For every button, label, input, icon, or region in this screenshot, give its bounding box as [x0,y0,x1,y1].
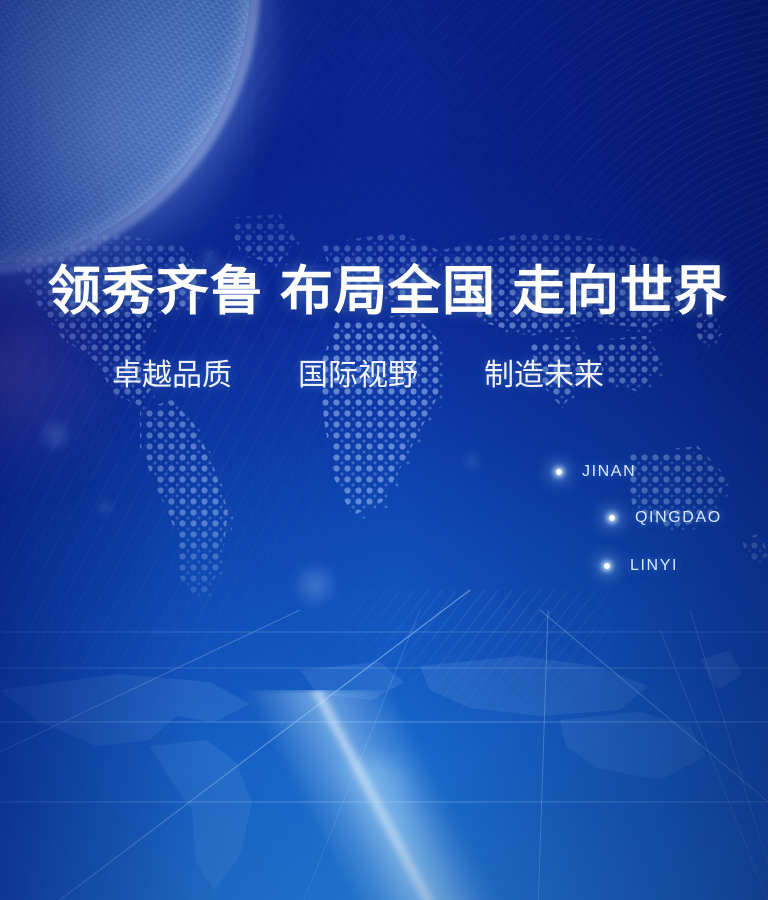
city-marker-group: JINAN QINGDAO LINYI [0,0,768,900]
city-marker-jinan[interactable]: JINAN [556,463,636,481]
city-marker-linyi[interactable]: LINYI [604,557,678,575]
city-marker-qingdao[interactable]: QINGDAO [609,509,722,527]
location-dot-icon [556,469,562,475]
hero-banner: 领秀齐鲁布局全国走向世界 卓越品质国际视野制造未来 JINAN QINGDAO … [0,0,768,900]
city-label: QINGDAO [635,509,722,527]
city-label: LINYI [630,557,678,575]
location-dot-icon [604,563,610,569]
city-label: JINAN [582,463,636,481]
location-dot-icon [609,515,615,521]
